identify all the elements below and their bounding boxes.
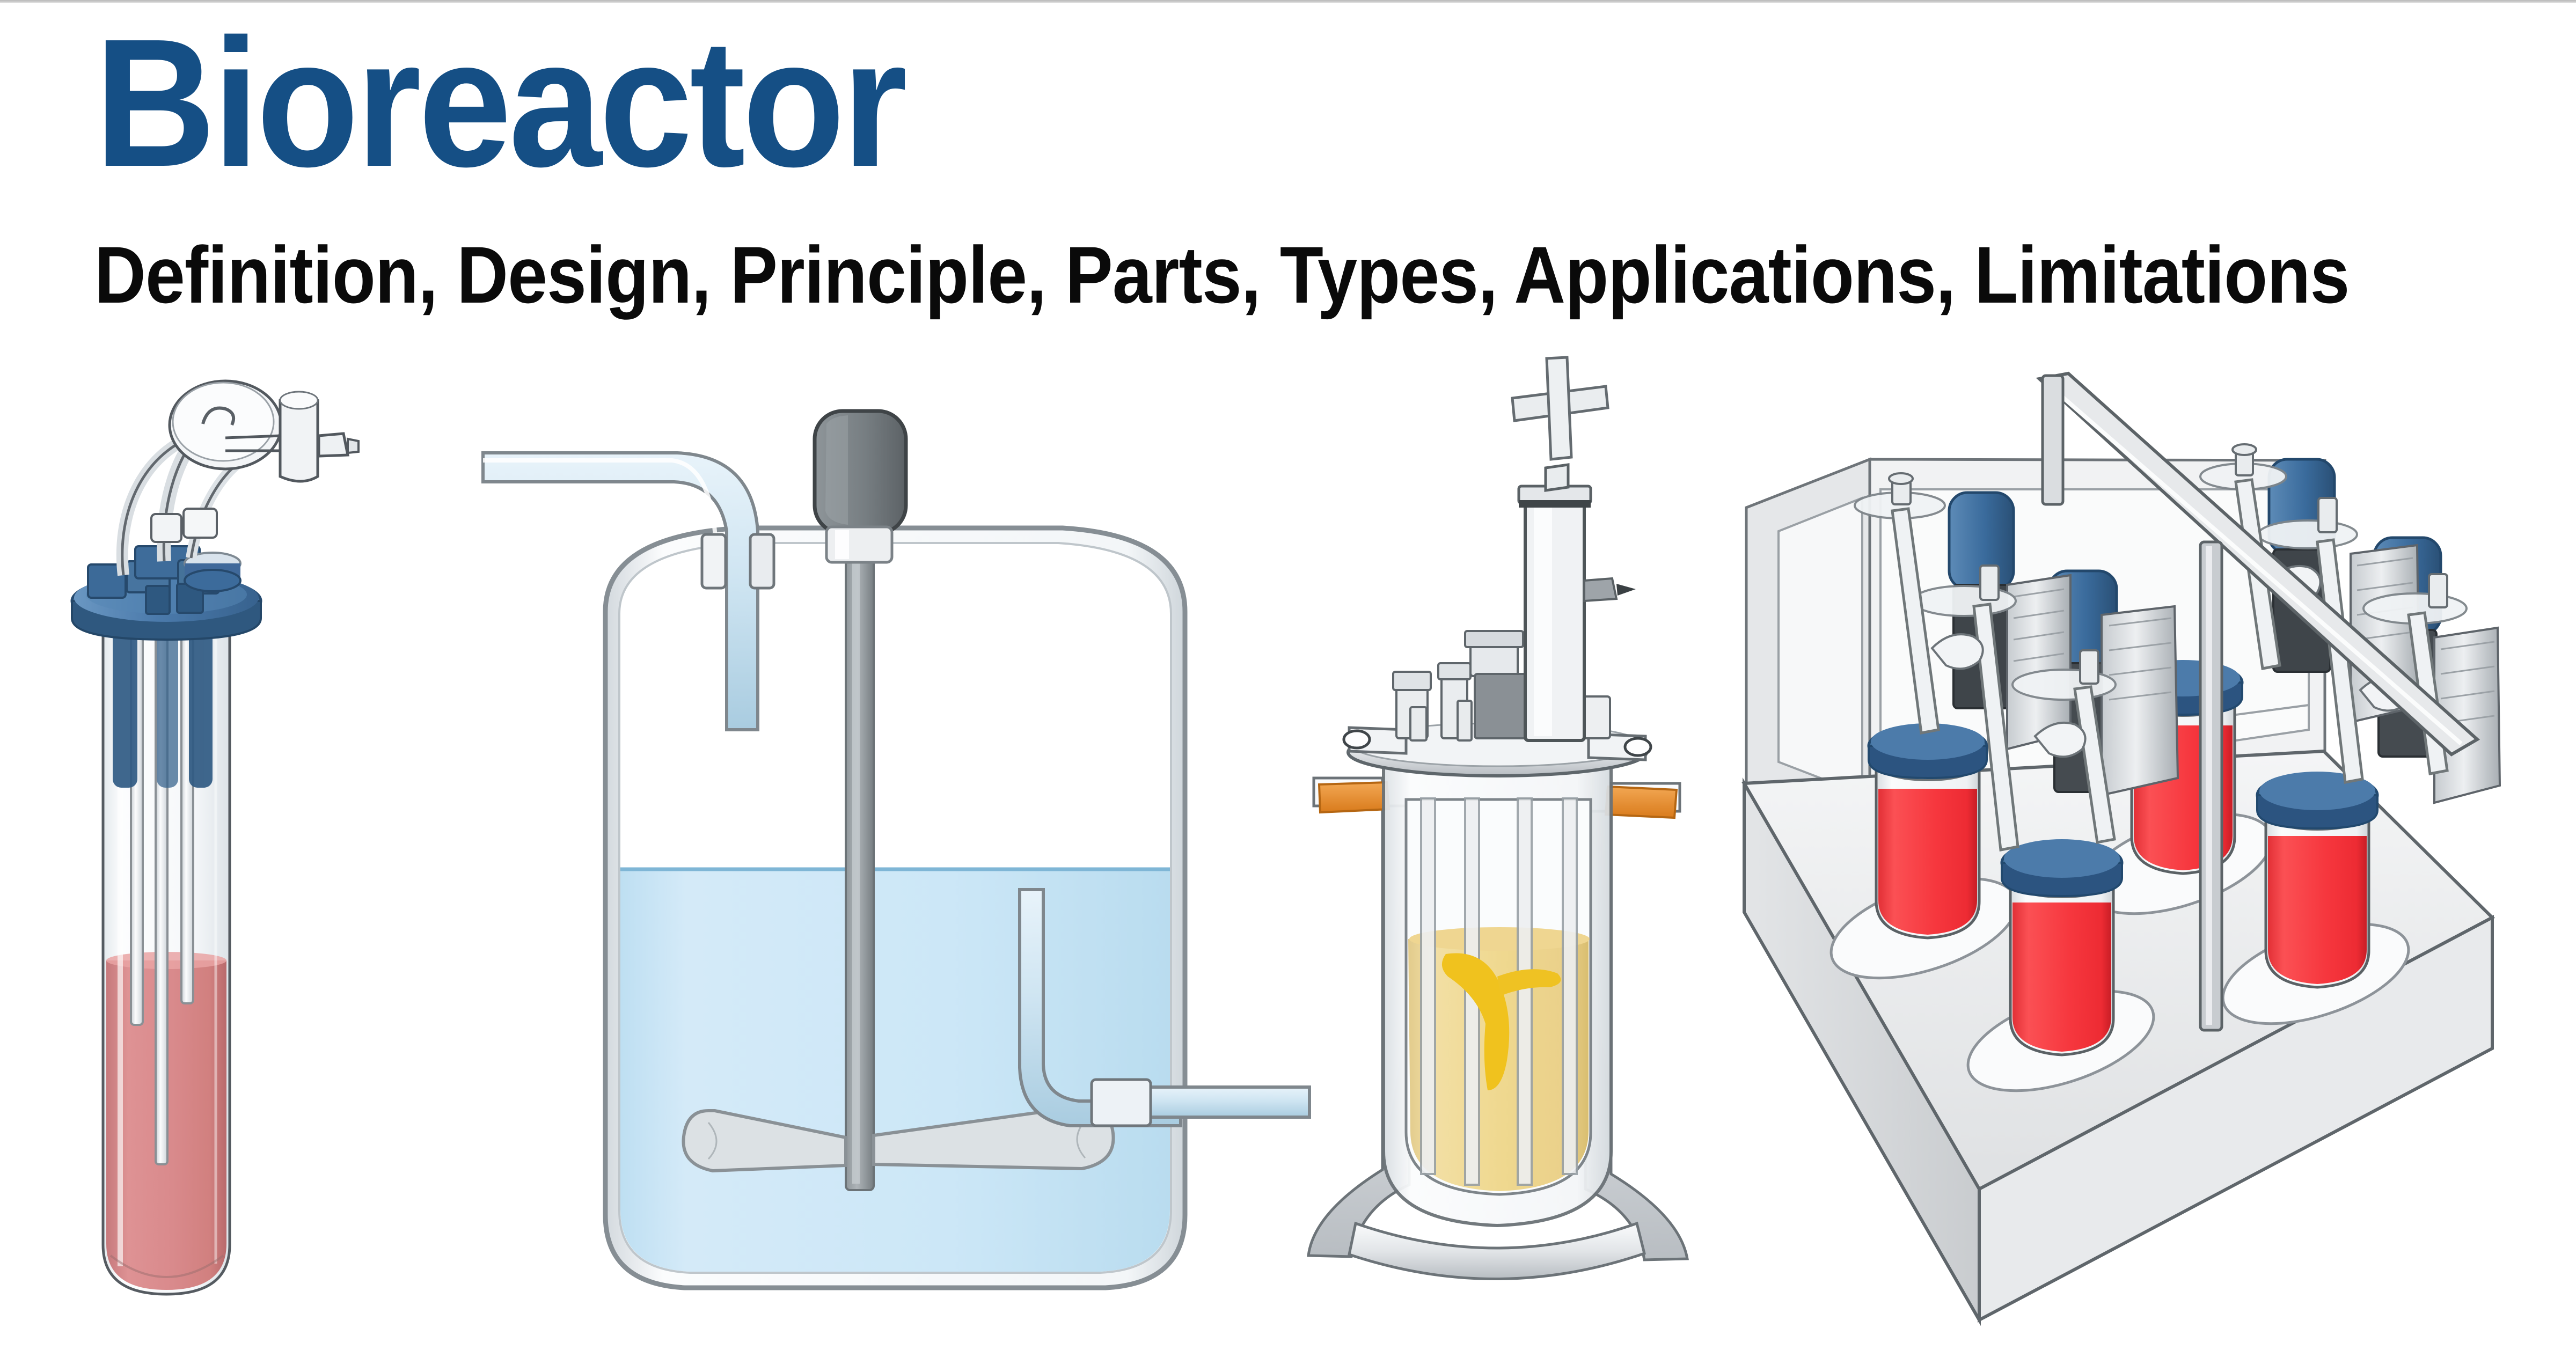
page-subtitle: Definition, Design, Principle, Parts, Ty… xyxy=(94,232,2349,318)
tube-clamp-caps xyxy=(151,509,217,542)
page-title: Bioreactor xyxy=(94,12,904,194)
cross-handle-valve[interactable] xyxy=(1512,357,1608,490)
bioreactor-vessel xyxy=(1869,723,1987,938)
bioreactor-vessel xyxy=(2002,839,2122,1055)
figure-single-use-bioreactor xyxy=(64,376,472,1320)
lid-post-shadows xyxy=(113,627,213,788)
agitator-shaft xyxy=(846,514,874,1190)
figure-stirred-tank-bioreactor xyxy=(547,397,1299,1320)
exhaust-condenser xyxy=(1519,486,1636,740)
luer-connector xyxy=(319,434,358,456)
shaft-seal-flange xyxy=(826,527,892,562)
figure-parallel-bioreactor-system xyxy=(1739,354,2501,1320)
culture-broth xyxy=(620,869,1170,1272)
figure-lab-scale-bioreactor xyxy=(1304,354,1701,1315)
drive-motor[interactable] xyxy=(815,411,906,533)
harvest-outlet-pipe xyxy=(1092,1080,1309,1126)
sterile-vent-filter xyxy=(170,381,281,469)
bioreactor-vessel xyxy=(2257,772,2377,987)
